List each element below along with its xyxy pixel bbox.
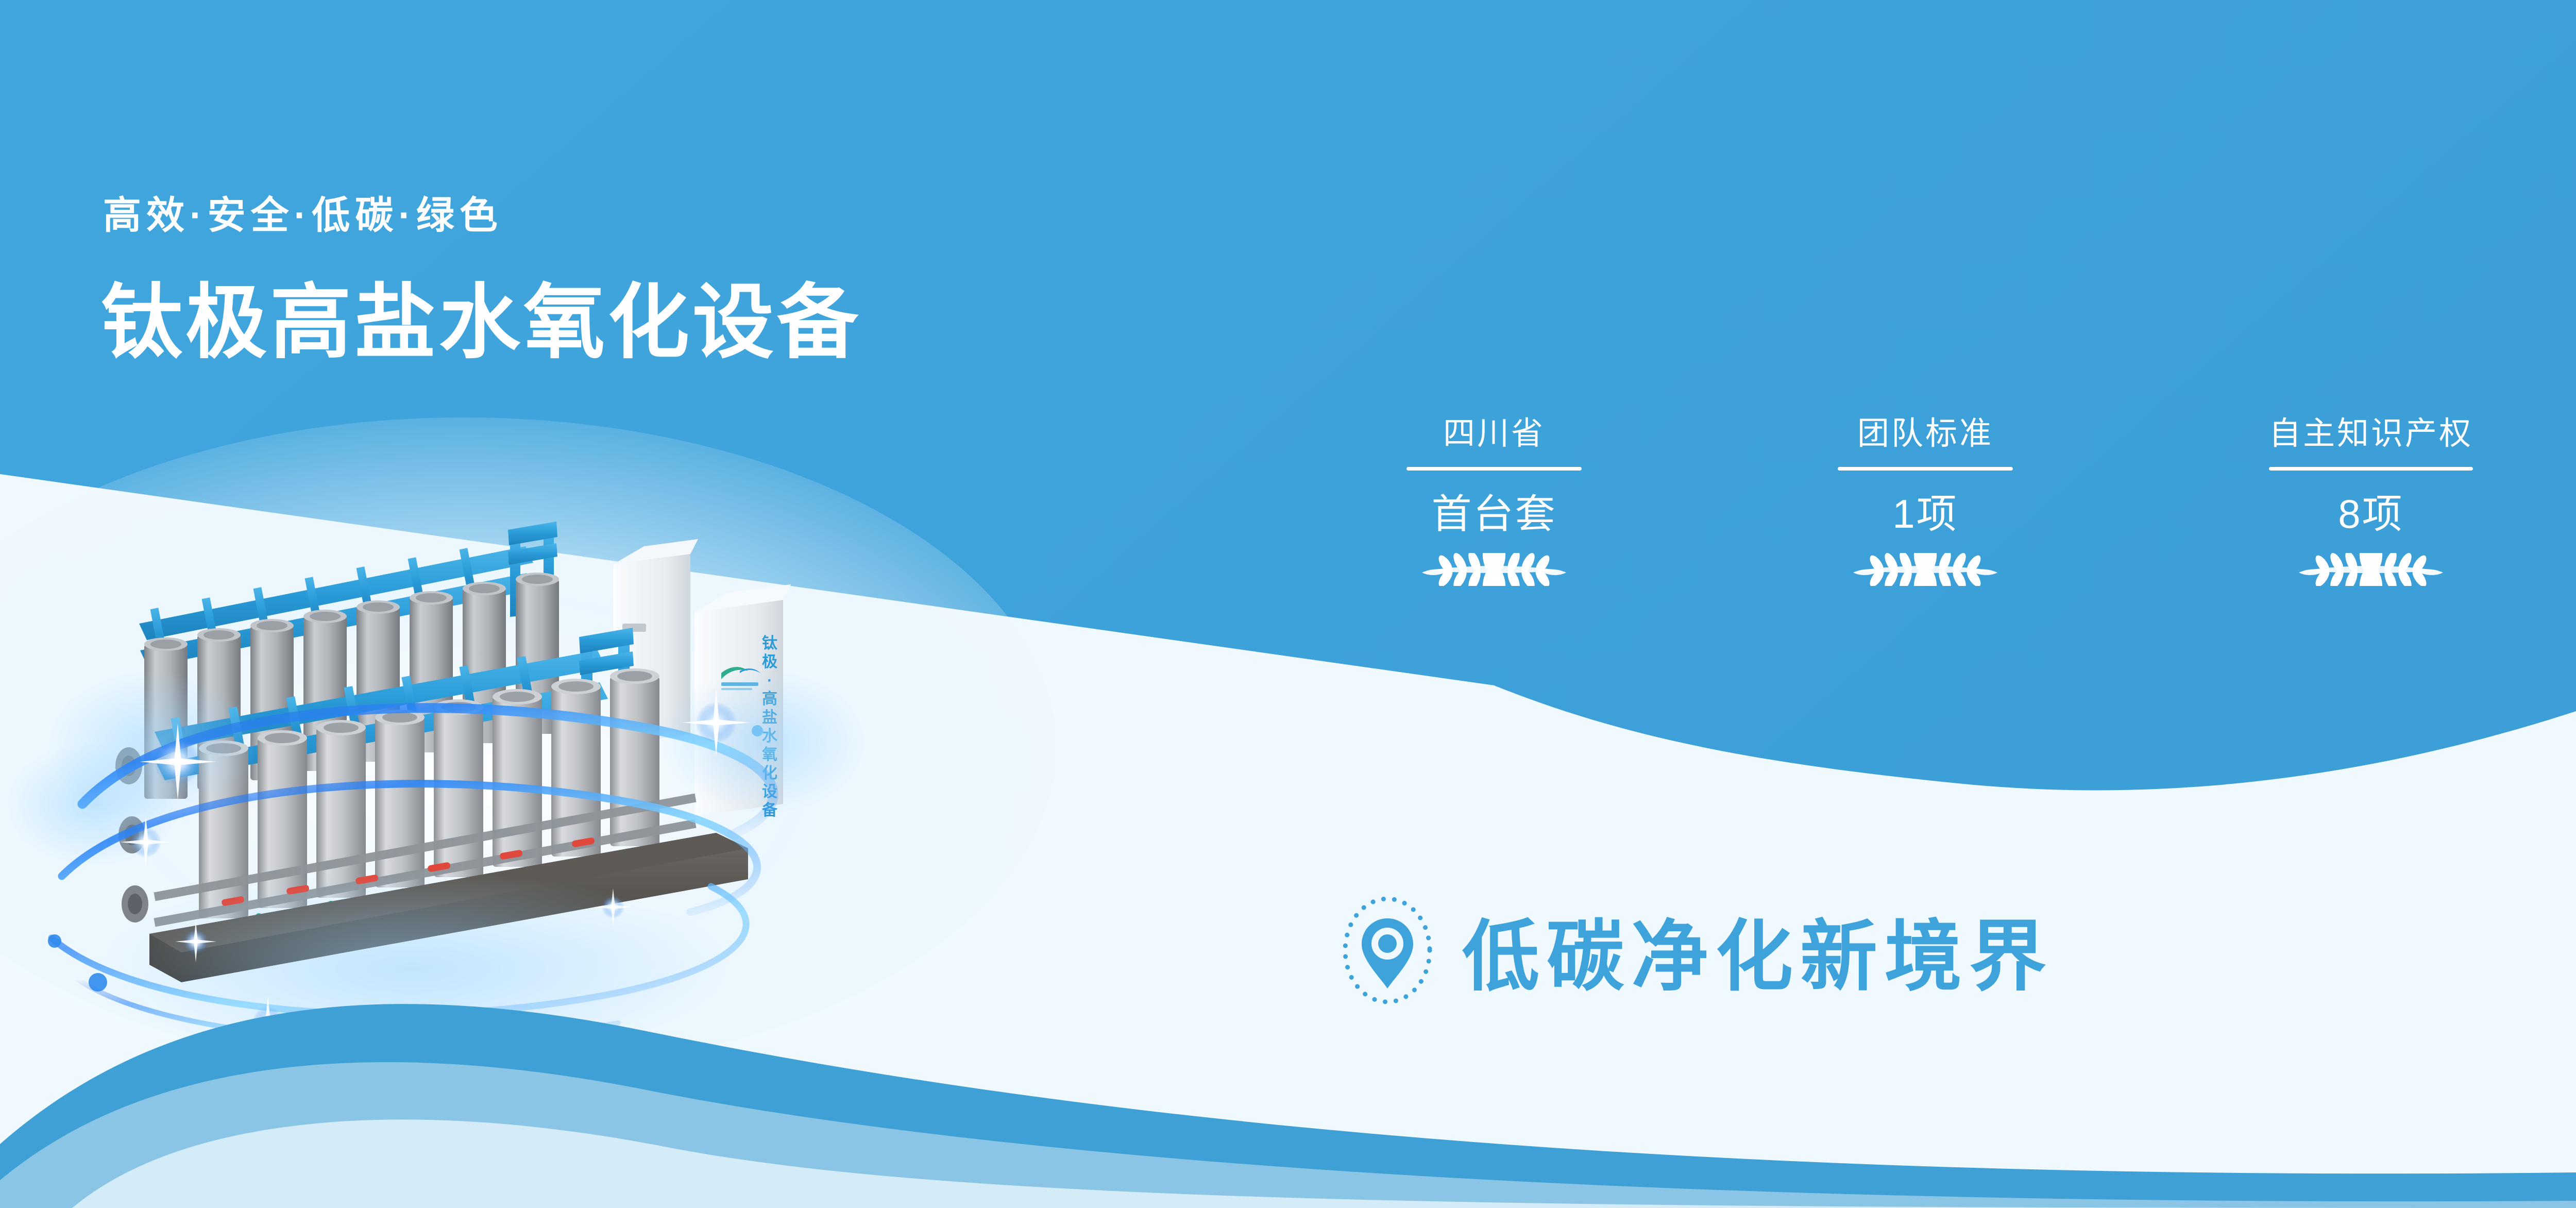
- stat-divider: [2269, 467, 2473, 471]
- laurel-ornament: [2283, 553, 2459, 586]
- stat-label: 四川省: [1443, 407, 1545, 454]
- stat-block-sichuan: 四川省 首台套: [1406, 407, 1582, 586]
- stat-value: 首台套: [1431, 482, 1556, 540]
- stat-value: 8项: [2338, 482, 2403, 540]
- stat-value: 1项: [1892, 482, 1958, 540]
- page-title: 钛极高盐水氧化设备: [101, 278, 861, 368]
- stats-row: 四川省 首台套: [1406, 407, 2473, 586]
- stat-block-team-standard: 团队标准 1项: [1838, 407, 2013, 586]
- eyebrow-text: 高效·安全·低碳·绿色: [103, 184, 503, 240]
- stat-divider: [1838, 467, 2013, 471]
- slogan-block: 低碳净化新境界: [1340, 894, 2054, 1006]
- location-pin-icon: [1340, 895, 1435, 1006]
- stat-label: 团队标准: [1857, 407, 1993, 454]
- promo-banner: 钛极 ·高 盐水 氧化 设备: [0, 0, 2576, 1208]
- bottom-wave-decoration: [0, 0, 2576, 1208]
- stat-block-ip: 自主知识产权 8项: [2269, 407, 2473, 586]
- stat-divider: [1406, 467, 1582, 471]
- slogan-text: 低碳净化新境界: [1462, 894, 2054, 1006]
- stat-label: 自主知识产权: [2269, 407, 2473, 454]
- laurel-ornament: [1406, 553, 1582, 586]
- laurel-ornament: [1838, 553, 2013, 586]
